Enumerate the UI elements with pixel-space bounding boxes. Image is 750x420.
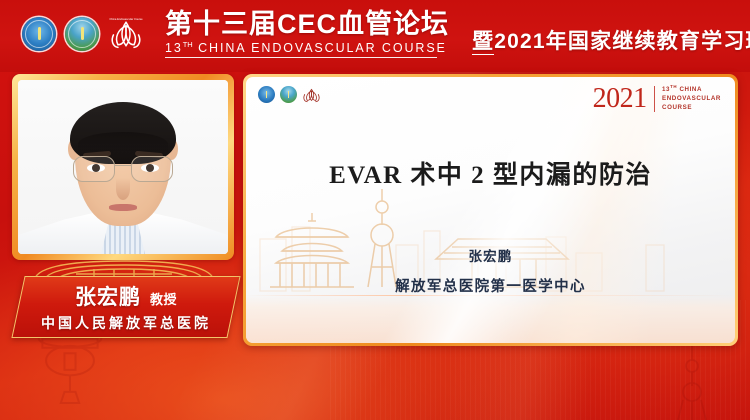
pearl-tower-ornament-icon: [672, 346, 712, 420]
slide-panel-frame: 2021 13TH CHINA ENDOVASCULAR COURSE EVAR…: [243, 74, 738, 346]
slide-logo-group: [258, 86, 321, 103]
slide-presenter-affiliation: 解放军总医院第一医学中心: [246, 275, 735, 296]
event-title-block: 第十三届CEC血管论坛 13TH CHINA ENDOVASCULAR COUR…: [165, 10, 449, 58]
event-subtitle: 暨2021年国家继续教育学习班: [472, 25, 750, 55]
event-title-english: 13TH CHINA ENDOVASCULAR COURSE: [165, 40, 437, 58]
speaker-rank: 教授: [150, 289, 177, 308]
society-emblem-green-icon: [65, 17, 99, 51]
society-emblem-blue-icon: [258, 86, 275, 103]
presentation-slide: 2021 13TH CHINA ENDOVASCULAR COURSE EVAR…: [246, 77, 735, 343]
cec-lotus-logo-icon: China Endovascular Course: [108, 17, 144, 51]
speaker-portrait-frame: [12, 74, 234, 260]
slide-year: 2021: [593, 85, 647, 113]
slide-year-badge: 2021 13TH CHINA ENDOVASCULAR COURSE: [593, 84, 721, 113]
society-emblem-blue-icon: [22, 17, 56, 51]
slide-presenter-name: 张宏鹏: [246, 245, 735, 265]
event-title-chinese: 第十三届CEC血管论坛: [165, 10, 449, 39]
society-emblem-green-icon: [280, 86, 297, 103]
speaker-organization: 中国人民解放军总医院: [41, 313, 211, 333]
speaker-nameplate: 张宏鹏 教授 中国人民解放军总医院: [11, 276, 240, 338]
slide-course-name: 13TH CHINA ENDOVASCULAR COURSE: [662, 84, 721, 113]
presentation-screenshot: China Endovascular Course 第十三届CEC血管论坛 13…: [0, 0, 750, 420]
event-header-banner: China Endovascular Course 第十三届CEC血管论坛 13…: [0, 0, 750, 72]
year-divider: [654, 86, 655, 112]
cec-lotus-logo-icon: [302, 86, 321, 103]
svg-text:China Endovascular Course: China Endovascular Course: [109, 17, 143, 21]
slide-main-title: EVAR 术中 2 型内漏的防治: [246, 155, 735, 191]
speaker-name: 张宏鹏: [75, 281, 141, 311]
speaker-headshot-photo: [18, 80, 228, 254]
